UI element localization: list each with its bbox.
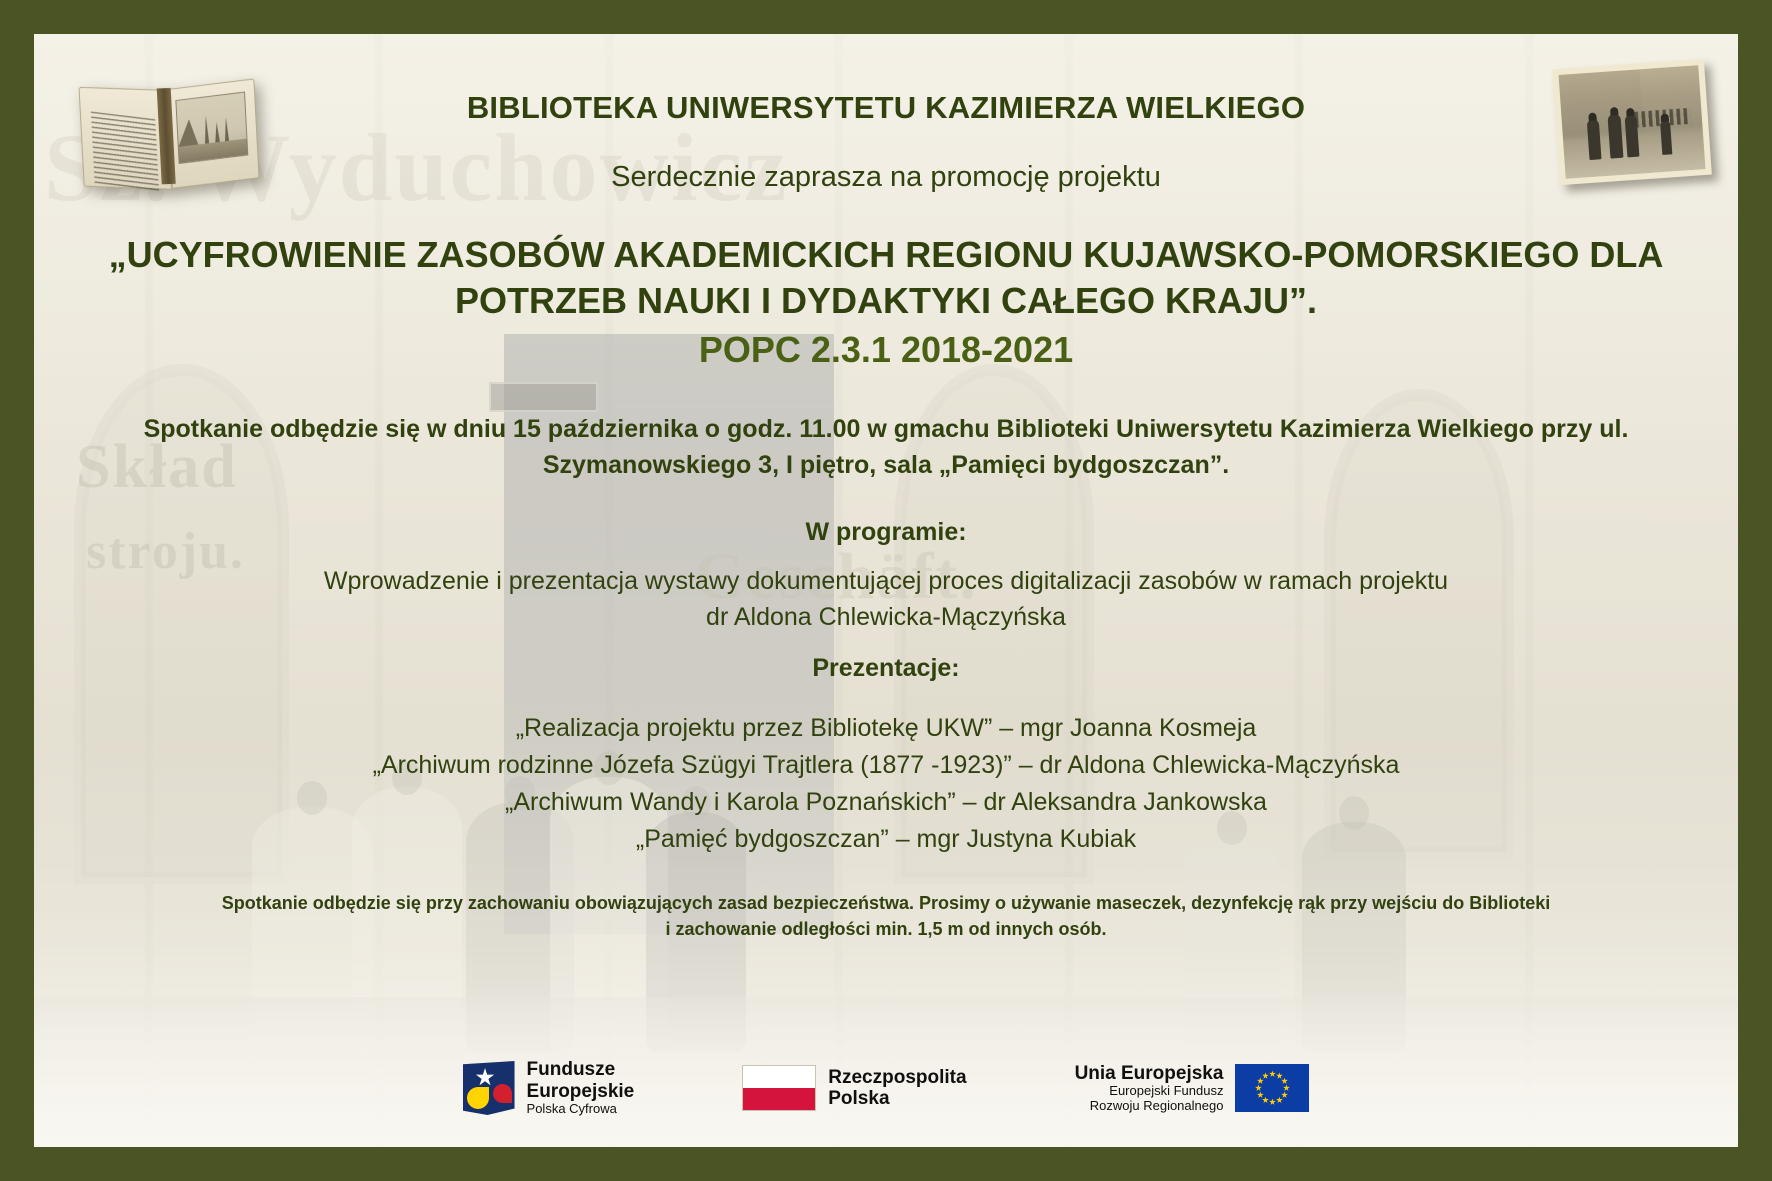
presentations-heading: Prezentacje: xyxy=(34,654,1738,683)
logo-unia-europejska: Unia Europejska Europejski Fundusz Rozwo… xyxy=(1075,1063,1310,1113)
presentations-list: „Realizacja projektu przez Bibliotekę UK… xyxy=(49,710,1723,858)
photo-person xyxy=(1660,121,1672,156)
logo-line-2: Europejskie xyxy=(527,1081,635,1102)
logo-rzeczpospolita-polska: Rzeczpospolita Polska xyxy=(742,1065,966,1111)
event-poster: Sz. Wyduchowicz Skład stroju. Geschäft. … xyxy=(0,0,1772,1181)
logo-line-2: Polska xyxy=(828,1088,966,1109)
meeting-details: Spotkanie odbędzie się w dniu 15 paździe… xyxy=(44,412,1728,483)
logo-line-3: Polska Cyfrowa xyxy=(527,1102,635,1117)
red-shape-icon xyxy=(493,1084,512,1103)
eu-star-icon xyxy=(1281,1091,1288,1098)
funding-logos-row: Fundusze Europejskie Polska Cyfrowa Rzec… xyxy=(34,1051,1738,1125)
eu-star-icon xyxy=(1276,1097,1283,1104)
eu-star-icon xyxy=(1255,1084,1262,1091)
project-title: „UCYFROWIENIE ZASOBÓW AKADEMICKICH REGIO… xyxy=(54,232,1718,324)
polish-flag-icon xyxy=(742,1065,816,1111)
eu-star-icon xyxy=(1257,1091,1264,1098)
eu-star-icon xyxy=(1257,1077,1264,1084)
logo-line-1: Unia Europejska xyxy=(1075,1063,1224,1084)
poster-content: BIBLIOTEKA UNIWERSYTETU KAZIMIERZA WIELK… xyxy=(34,34,1738,1147)
logo-text-block: Rzeczpospolita Polska xyxy=(828,1067,966,1110)
eu-star-icon xyxy=(1283,1084,1290,1091)
presentation-item: „Archiwum Wandy i Karola Poznańskich” – … xyxy=(49,784,1723,821)
logo-fundusze-europejskie: Fundusze Europejskie Polska Cyfrowa xyxy=(463,1059,635,1116)
open-book-photo-icon xyxy=(76,67,262,196)
eu-star-icon xyxy=(1269,1098,1276,1105)
logo-line-3: Rozwoju Regionalnego xyxy=(1075,1099,1224,1114)
eu-star-icon xyxy=(1281,1077,1288,1084)
organization-name: BIBLIOTEKA UNIWERSYTETU KAZIMIERZA WIELK… xyxy=(34,90,1738,126)
eu-star-icon xyxy=(1276,1072,1283,1079)
logo-text-block: Unia Europejska Europejski Fundusz Rozwo… xyxy=(1075,1063,1224,1113)
book-engraving xyxy=(175,92,248,164)
book-text-lines xyxy=(91,111,159,191)
european-union-flag-icon xyxy=(1235,1064,1309,1112)
logo-text-block: Fundusze Europejskie Polska Cyfrowa xyxy=(527,1059,635,1116)
project-code: POPC 2.3.1 2018-2021 xyxy=(34,329,1738,371)
eu-star-icon xyxy=(1269,1070,1276,1077)
safety-notice: Spotkanie odbędzie się przy zachowaniu o… xyxy=(89,890,1683,942)
presentation-item: „Realizacja projektu przez Bibliotekę UK… xyxy=(49,710,1723,747)
star-icon xyxy=(476,1068,495,1087)
presentation-item: „Pamięć bydgoszczan” – mgr Justyna Kubia… xyxy=(49,821,1723,858)
eu-star-icon xyxy=(1262,1072,1269,1079)
presentation-item: „Archiwum rodzinne Józefa Szügyi Trajtle… xyxy=(49,747,1723,784)
program-heading: W programie: xyxy=(34,518,1738,547)
logo-line-1: Rzeczpospolita xyxy=(828,1067,966,1088)
invitation-text: Serdecznie zaprasza na promocję projektu xyxy=(34,161,1738,194)
archival-photograph-icon xyxy=(1552,59,1712,185)
eu-star-icon xyxy=(1262,1097,1269,1104)
logo-line-1: Fundusze xyxy=(527,1059,635,1080)
archival-photo-image xyxy=(1559,65,1706,179)
program-body: Wprowadzenie i prezentacja wystawy dokum… xyxy=(54,564,1718,635)
logo-line-2: Europejski Fundusz xyxy=(1075,1084,1224,1099)
fundusze-europejskie-icon xyxy=(463,1061,515,1115)
yellow-shape-icon xyxy=(467,1087,489,1109)
